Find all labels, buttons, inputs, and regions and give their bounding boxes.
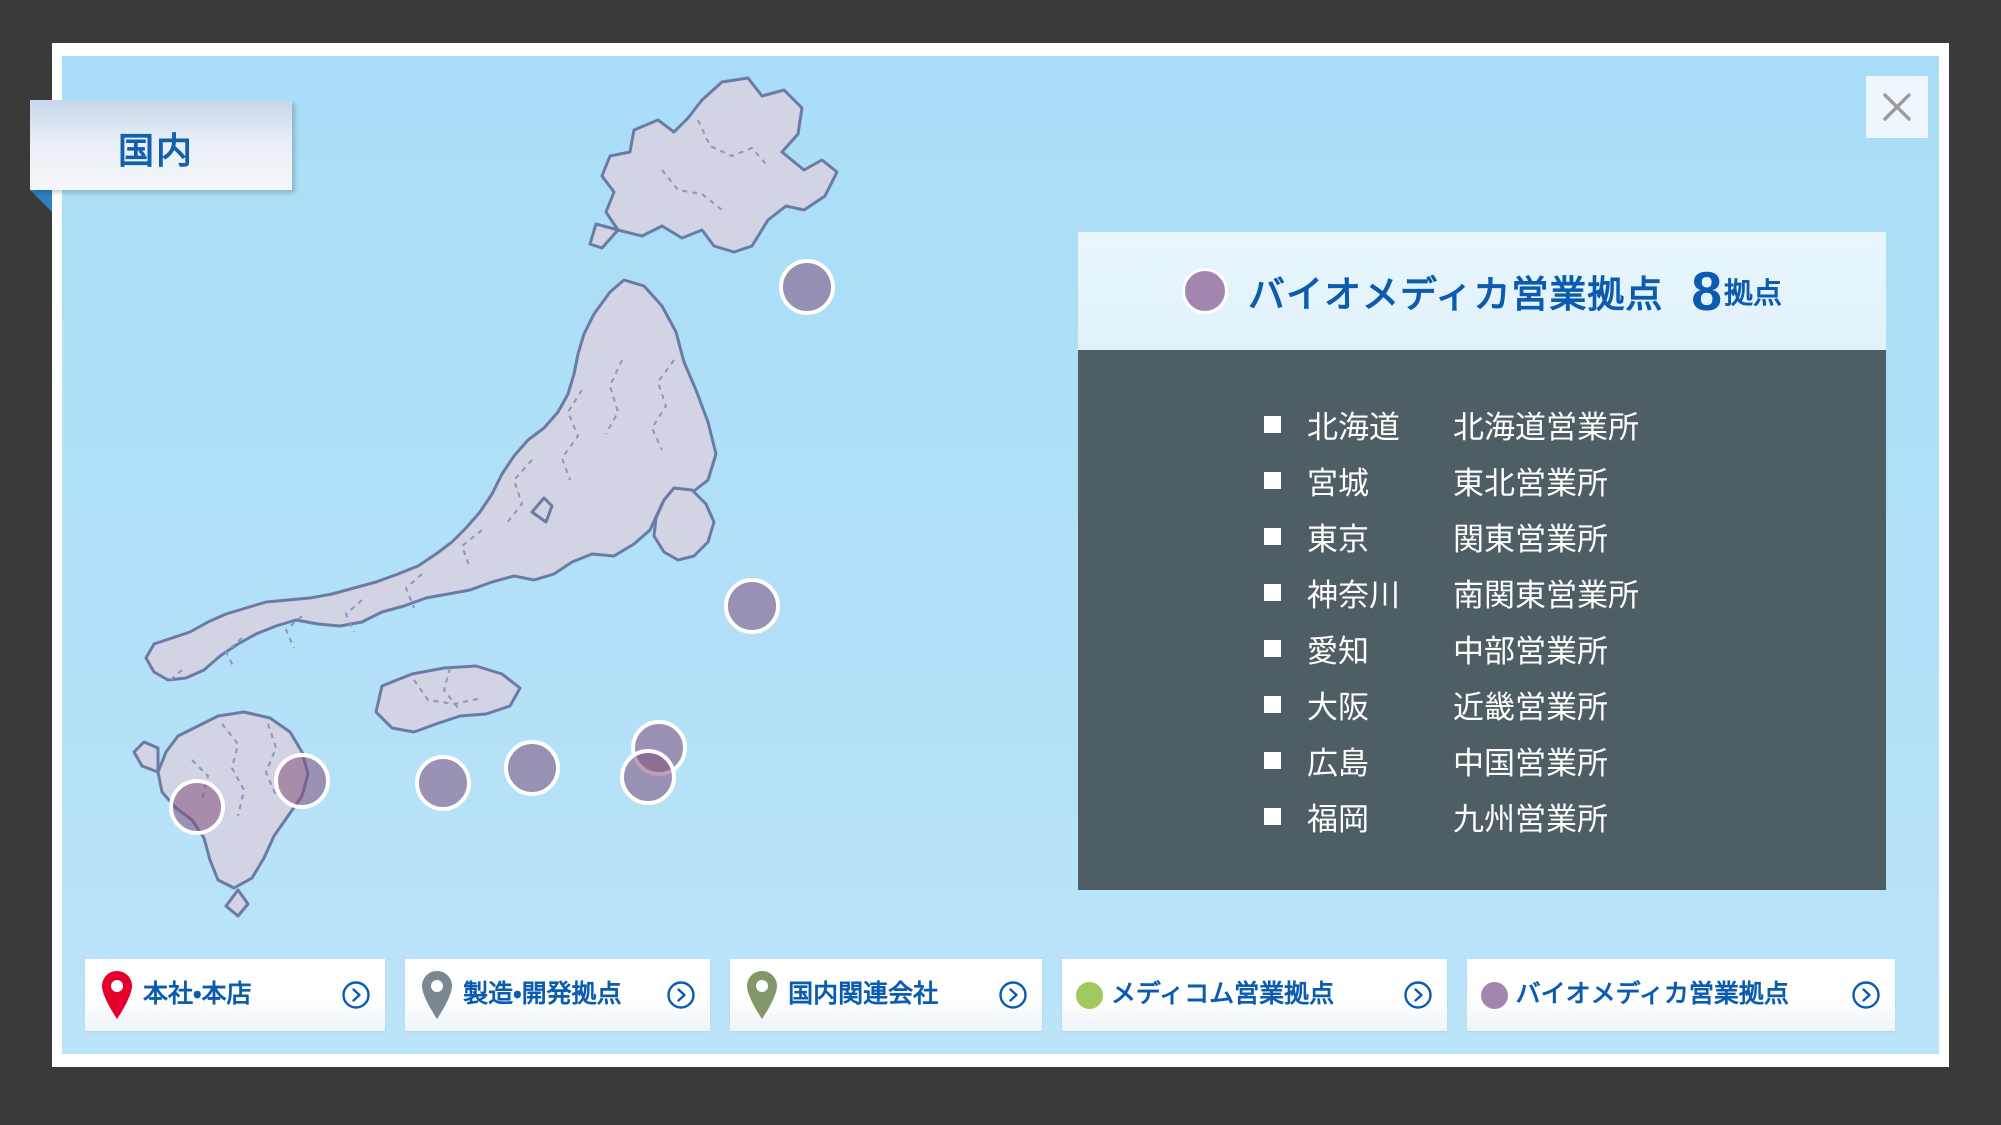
legend-label: 本社・本店 (143, 980, 335, 1010)
green-circle-icon (1076, 982, 1103, 1009)
tab-fold-decoration (30, 190, 52, 212)
chevron-right-circle-icon (998, 980, 1028, 1010)
bullet-icon (1264, 528, 1281, 545)
office-name: 中国営業所 (1453, 738, 1608, 783)
map-pin-icon (419, 969, 455, 1021)
list-item: 宮城 東北営業所 (1078, 452, 1886, 508)
office-name: 北海道営業所 (1453, 402, 1639, 447)
office-name: 九州営業所 (1453, 794, 1608, 839)
marker-aichi[interactable] (504, 740, 560, 796)
legend-button-manufacturing[interactable]: 製造・開発拠点 (405, 959, 710, 1031)
marker-hiroshima[interactable] (274, 753, 330, 809)
office-name: 東北営業所 (1453, 458, 1608, 503)
legend-label: 国内関連会社 (788, 980, 992, 1010)
chevron-right-circle-icon (1851, 980, 1881, 1010)
legend-button-medicom[interactable]: メディコム営業拠点 (1062, 959, 1447, 1031)
tab-domestic[interactable]: 国内 (30, 100, 292, 190)
map-pin-icon (744, 969, 780, 1021)
office-prefecture: 東京 (1307, 514, 1453, 559)
list-item: 北海道 北海道営業所 (1078, 396, 1886, 452)
bullet-icon (1264, 640, 1281, 657)
bullet-icon (1264, 808, 1281, 825)
office-name: 関東営業所 (1453, 514, 1608, 559)
page-background: バイオメディカ営業拠点 8 拠点 北海道 北海道営業所 宮城 東北営業所 東京 (0, 0, 2001, 1125)
region-shikoku (376, 666, 520, 732)
office-name: 南関東営業所 (1453, 570, 1639, 615)
legend-button-affiliates[interactable]: 国内関連会社 (730, 959, 1042, 1031)
close-button[interactable] (1866, 76, 1928, 138)
region-islet-north (590, 224, 618, 248)
legend-label: 製造・開発拠点 (463, 980, 660, 1010)
office-list: 北海道 北海道営業所 宮城 東北営業所 東京 関東営業所 神奈川 南関東営業所 (1078, 350, 1886, 890)
bullet-icon (1264, 584, 1281, 601)
office-name: 中部営業所 (1453, 626, 1608, 671)
map-viewport: バイオメディカ営業拠点 8 拠点 北海道 北海道営業所 宮城 東北営業所 東京 (62, 56, 1939, 1054)
office-info-panel: バイオメディカ営業拠点 8 拠点 北海道 北海道営業所 宮城 東北営業所 東京 (1078, 232, 1886, 890)
bullet-icon (1264, 472, 1281, 489)
office-prefecture: 広島 (1307, 738, 1453, 783)
panel-title: バイオメディカ営業拠点 (1248, 264, 1663, 318)
tab-domestic-label: 国内 (118, 122, 194, 174)
office-prefecture: 愛知 (1307, 626, 1453, 671)
panel-count: 8 (1691, 264, 1722, 319)
marker-osaka[interactable] (415, 755, 471, 811)
office-prefecture: 大阪 (1307, 682, 1453, 727)
list-item: 大阪 近畿営業所 (1078, 676, 1886, 732)
map-pin-icon (99, 969, 135, 1021)
purple-circle-icon (1182, 268, 1228, 314)
region-hokkaido (602, 78, 837, 252)
legend-label: メディコム営業拠点 (1111, 980, 1397, 1010)
region-honshu (146, 280, 716, 680)
bullet-icon (1264, 752, 1281, 769)
legend-bar: 本社・本店 製造・開発拠点 国内関連会社 (85, 959, 1895, 1031)
office-prefecture: 神奈川 (1307, 570, 1453, 615)
list-item: 福岡 九州営業所 (1078, 788, 1886, 844)
chevron-right-circle-icon (666, 980, 696, 1010)
region-kyushu-islet (134, 742, 158, 772)
list-item: 東京 関東営業所 (1078, 508, 1886, 564)
close-icon (1866, 76, 1928, 138)
marker-miyagi[interactable] (724, 578, 780, 634)
bullet-icon (1264, 416, 1281, 433)
legend-label: バイオメディカ営業拠点 (1516, 980, 1845, 1010)
list-item: 神奈川 南関東営業所 (1078, 564, 1886, 620)
marker-fukuoka[interactable] (169, 779, 225, 835)
region-kyushu-south-islet (226, 890, 248, 916)
legend-button-biomedica[interactable]: バイオメディカ営業拠点 (1467, 959, 1895, 1031)
marker-hokkaido[interactable] (779, 259, 835, 315)
marker-kanagawa[interactable] (620, 749, 676, 805)
chevron-right-circle-icon (341, 980, 371, 1010)
chevron-right-circle-icon (1403, 980, 1433, 1010)
office-prefecture: 宮城 (1307, 458, 1453, 503)
panel-count-unit: 拠点 (1724, 270, 1782, 350)
purple-circle-icon (1481, 982, 1508, 1009)
office-name: 近畿営業所 (1453, 682, 1608, 727)
office-prefecture: 福岡 (1307, 794, 1453, 839)
legend-button-headquarters[interactable]: 本社・本店 (85, 959, 385, 1031)
list-item: 広島 中国営業所 (1078, 732, 1886, 788)
office-prefecture: 北海道 (1307, 402, 1453, 447)
panel-header: バイオメディカ営業拠点 8 拠点 (1078, 232, 1886, 350)
bullet-icon (1264, 696, 1281, 713)
list-item: 愛知 中部営業所 (1078, 620, 1886, 676)
